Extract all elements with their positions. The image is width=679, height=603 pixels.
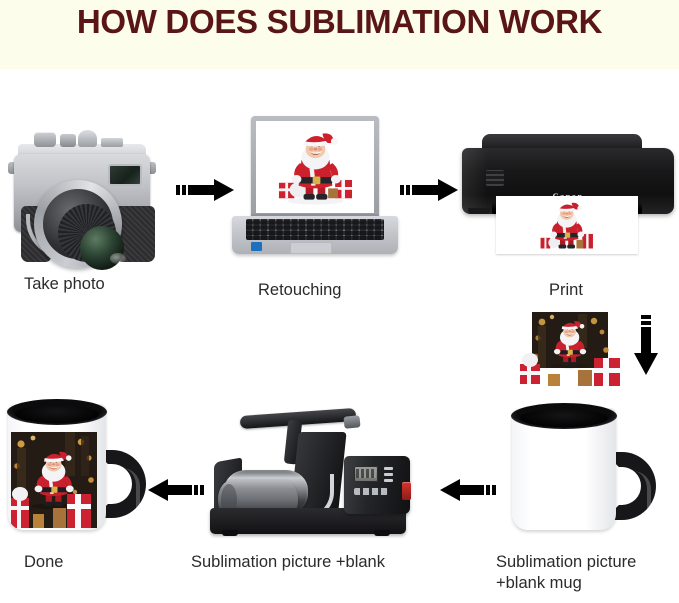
camera-focus-ring bbox=[58, 204, 116, 262]
arrow-camera-to-laptop bbox=[176, 178, 236, 202]
santa-artwork-on-screen bbox=[273, 128, 358, 205]
press-lcd-digits bbox=[356, 469, 376, 478]
camera-lens-barrel bbox=[43, 189, 113, 259]
press-lever-knob bbox=[343, 415, 360, 429]
press-indicator-3 bbox=[384, 479, 393, 482]
camera-lens bbox=[34, 180, 122, 268]
press-power-switch[interactable] bbox=[402, 482, 411, 500]
camera-lens-highlight bbox=[110, 253, 126, 264]
arrow-laptop-to-printer bbox=[400, 178, 460, 202]
press-foot-left bbox=[222, 530, 238, 536]
laptop-screen bbox=[256, 121, 374, 213]
press-indicator-2 bbox=[384, 473, 393, 476]
press-control-buttons[interactable] bbox=[354, 488, 388, 495]
camera-dial-mid bbox=[60, 134, 76, 147]
camera-lens-glass bbox=[80, 226, 124, 270]
step-label-blank-mug: Sublimation picture +blank mug bbox=[496, 552, 636, 594]
camera-icon bbox=[8, 118, 156, 258]
step-label-print: Print bbox=[549, 280, 583, 301]
press-indicator-1 bbox=[384, 467, 393, 470]
santa-artwork-on-mug bbox=[11, 432, 97, 528]
step-label-retouching: Retouching bbox=[258, 280, 341, 301]
camera-hotshoe bbox=[101, 138, 123, 147]
mug-heat-press-icon bbox=[198, 404, 424, 544]
infographic-canvas: HOW DOES SUBLIMATION WORK Take p bbox=[0, 0, 679, 603]
press-foot-right bbox=[374, 530, 390, 536]
page-title: HOW DOES SUBLIMATION WORK bbox=[0, 0, 679, 46]
laptop-lid bbox=[251, 116, 379, 218]
santa-artwork-on-sheet bbox=[527, 199, 607, 252]
laptop-keyboard bbox=[246, 219, 384, 240]
step-label-take-photo: Take photo bbox=[24, 274, 105, 295]
printer-icon: Canon bbox=[462, 134, 674, 258]
laptop-base bbox=[232, 216, 398, 254]
arrow-printer-to-paper bbox=[633, 315, 659, 377]
blank-mug-icon bbox=[512, 408, 664, 534]
printed-mug-icon bbox=[8, 404, 148, 534]
sublimation-transfer-print bbox=[518, 312, 622, 386]
camera-shutter-button bbox=[78, 130, 97, 147]
printed-mug-interior bbox=[15, 405, 99, 423]
printer-control-panel bbox=[486, 170, 504, 186]
camera-dial-left bbox=[34, 132, 56, 147]
step-label-heat-press: Sublimation picture +blank bbox=[191, 552, 385, 573]
blank-mug-interior bbox=[520, 409, 608, 427]
laptop-icon bbox=[232, 116, 398, 258]
arrow-mug-to-press bbox=[436, 478, 498, 502]
laptop-trackpad bbox=[290, 242, 332, 254]
press-controller-box bbox=[344, 456, 410, 514]
step-label-done: Done bbox=[24, 552, 63, 573]
arrow-press-to-done bbox=[144, 478, 206, 502]
printed-sheet bbox=[496, 196, 638, 254]
printer-paper-tray bbox=[468, 208, 490, 214]
camera-viewfinder-window bbox=[108, 164, 142, 186]
title-band: HOW DOES SUBLIMATION WORK bbox=[0, 0, 679, 69]
laptop-sticker bbox=[251, 242, 262, 251]
